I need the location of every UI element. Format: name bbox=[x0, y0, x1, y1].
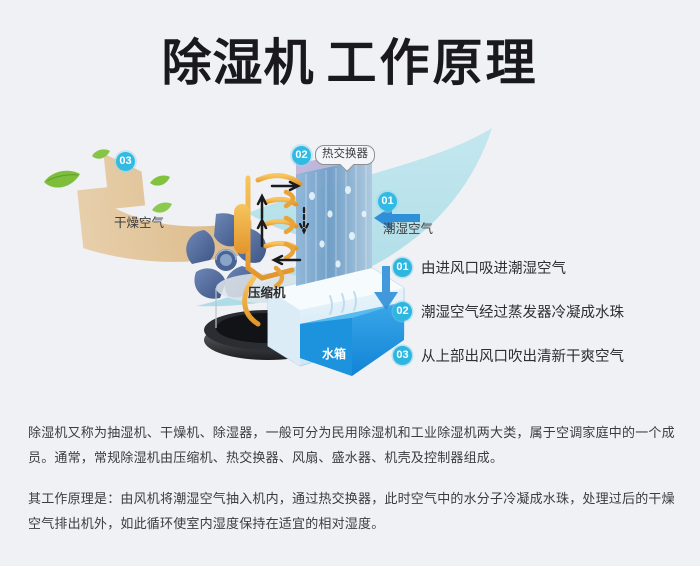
humid-air-label: 潮湿空气 bbox=[383, 218, 433, 237]
step-badge-03: 03 bbox=[393, 346, 412, 365]
title-part-2: 工作原理 bbox=[327, 35, 539, 91]
compressor-label: 压缩机 bbox=[248, 282, 286, 301]
step-text-01: 由进风口吸进潮湿空气 bbox=[421, 257, 566, 278]
list-item: 01 由进风口吸进潮湿空气 bbox=[393, 255, 693, 279]
description-block: 除湿机又称为抽湿机、干燥机、除湿器，一般可分为民用除湿机和工业除湿机两大类，属于… bbox=[28, 420, 678, 536]
paragraph-2: 其工作原理是：由风机将潮湿空气抽入机内，通过热交换器，此时空气中的水分子冷凝成水… bbox=[28, 486, 678, 536]
heat-exchanger-tag: 热交换器 bbox=[315, 145, 375, 165]
coil-accumulator bbox=[234, 204, 250, 254]
evaporator-block bbox=[296, 148, 372, 286]
heat-exchanger-badge: 02 bbox=[292, 146, 311, 165]
list-item: 03 从上部出风口吹出清新干爽空气 bbox=[393, 343, 693, 367]
steps-list: 01 由进风口吸进潮湿空气 02 潮湿空气经过蒸发器冷凝成水珠 03 从上部出风… bbox=[393, 255, 693, 387]
step-badge-01: 01 bbox=[393, 258, 412, 277]
title-part-1: 除湿机 bbox=[162, 35, 315, 91]
page-title: 除湿机工作原理 bbox=[0, 32, 700, 94]
step-text-03: 从上部出风口吹出清新干爽空气 bbox=[421, 345, 624, 366]
step-text-02: 潮湿空气经过蒸发器冷凝成水珠 bbox=[421, 301, 624, 322]
humid-air-badge: 01 bbox=[378, 192, 397, 211]
dry-air-badge: 03 bbox=[116, 152, 135, 171]
dry-air-label: 干燥空气 bbox=[114, 212, 164, 231]
step-badge-02: 02 bbox=[393, 302, 412, 321]
infographic-page: 除湿机工作原理 bbox=[0, 0, 700, 566]
water-tank-label: 水箱 bbox=[322, 345, 346, 362]
paragraph-1: 除湿机又称为抽湿机、干燥机、除湿器，一般可分为民用除湿机和工业除湿机两大类，属于… bbox=[28, 420, 678, 470]
list-item: 02 潮湿空气经过蒸发器冷凝成水珠 bbox=[393, 299, 693, 323]
